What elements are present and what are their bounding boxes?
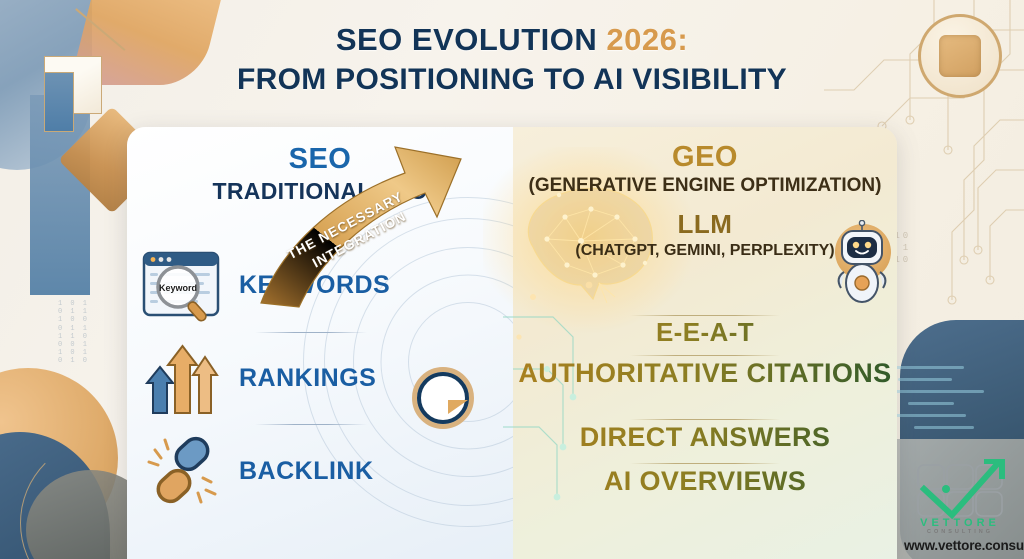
- integration-arrow-banner: THE NECESSARY INTEGRATION: [255, 125, 545, 310]
- blue-column-shape: [30, 95, 90, 295]
- geo-heading: GEO: [513, 141, 897, 174]
- geo-item-ai-overviews[interactable]: AI OVERVIEWS: [513, 467, 897, 495]
- footer-branding[interactable]: VETTORE CONSULTING www.vettore.consultin…: [904, 459, 1016, 553]
- gold-circle-bottom-left: [0, 368, 118, 548]
- geo-panel: GEO (GENERATIVE ENGINE OPTIMIZATION) LLM…: [513, 127, 897, 559]
- geo-item-direct-answers[interactable]: DIRECT ANSWERS: [513, 423, 897, 451]
- rising-arrows-icon: [127, 339, 239, 417]
- title-year-accent: 2026:: [606, 22, 688, 57]
- title-main-text: SEO EVOLUTION: [336, 22, 607, 57]
- geo-subheading: (GENERATIVE ENGINE OPTIMIZATION): [513, 175, 897, 197]
- binary-digits-left: 1 0 1 0 1 1 1 0 0 0 1 1 1 1 0 0 0 1 1 0 …: [58, 300, 130, 460]
- infographic-canvas: 1 0 1 0 1 1 1 0 0 0 1 1 1 1 0 0 0 1 1 0 …: [0, 0, 1024, 559]
- chain-link-icon: [127, 432, 239, 510]
- logo-tagline: CONSULTING: [904, 529, 1016, 535]
- geo-item-eeat[interactable]: E-E-A-T: [513, 319, 897, 346]
- page-title: SEO EVOLUTION 2026: FROM POSITIONING TO …: [0, 22, 1024, 97]
- seo-item-label: BACKLINK: [239, 457, 513, 486]
- svg-text:Keyword: Keyword: [159, 283, 197, 293]
- geo-divider-4: [630, 463, 780, 464]
- geo-item-authoritative-citations[interactable]: AUTHORITATIVE CITATIONS: [513, 359, 897, 387]
- data-bars-decoration: [884, 360, 1004, 450]
- geo-divider-3: [630, 419, 780, 420]
- title-line-1: SEO EVOLUTION 2026:: [0, 22, 1024, 58]
- geo-divider-2: [630, 355, 780, 356]
- ai-robot-icon: [833, 220, 891, 304]
- title-line-2: FROM POSITIONING TO AI VISIBILITY: [0, 63, 1024, 97]
- seo-item-rankings[interactable]: RANKINGS: [127, 333, 513, 423]
- navy-shape-bottom-left: [0, 432, 110, 559]
- website-url[interactable]: www.vettore.consulting: [904, 538, 1016, 553]
- seo-item-backlink[interactable]: BACKLINK: [127, 425, 513, 517]
- geo-divider-1: [630, 315, 780, 316]
- seo-item-label: RANKINGS: [239, 364, 513, 393]
- keyword-search-icon: Keyword: [127, 247, 239, 323]
- vettore-check-arrow-logo: [912, 459, 1008, 521]
